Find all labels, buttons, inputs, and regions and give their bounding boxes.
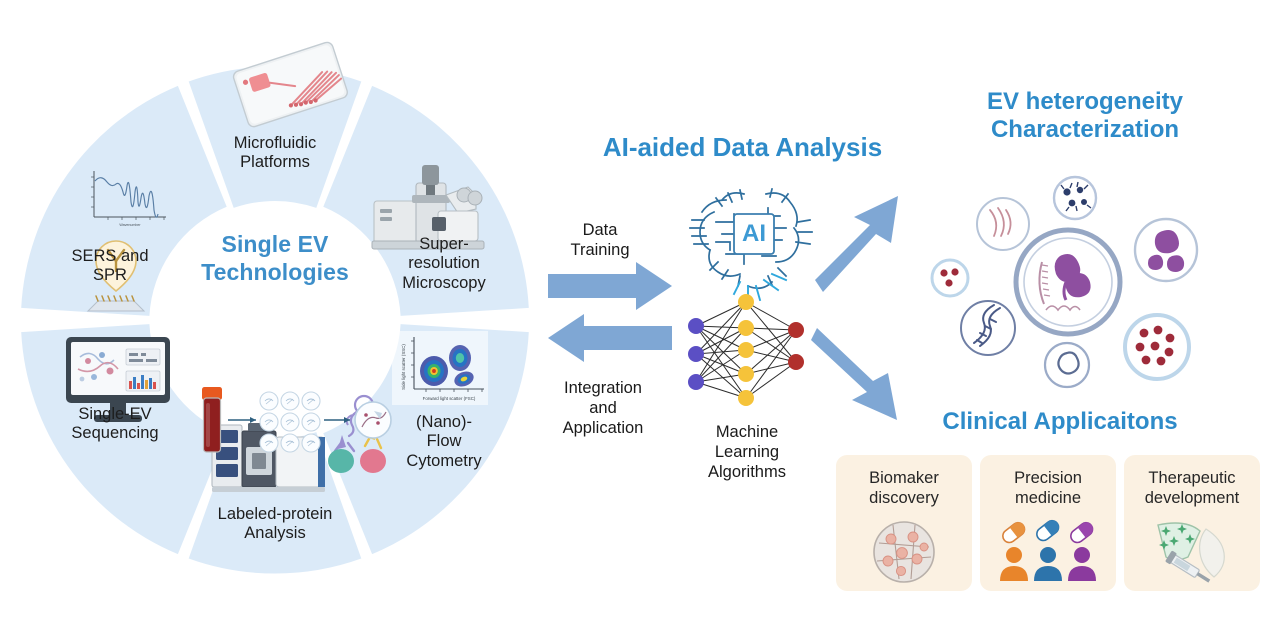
vesicle-protein-cluster — [1054, 177, 1096, 219]
arrow-data-training — [548, 262, 672, 310]
ai-chip-label: AI — [742, 220, 766, 247]
vesicle-dna-helix — [961, 301, 1015, 355]
clinical-card-biomarker[interactable]: Biomaker discovery — [836, 455, 972, 591]
neural-network-icon — [676, 288, 816, 418]
svg-text:Wavenumber: Wavenumber — [119, 223, 141, 227]
flow-cytometry-plot-icon: Side light scatter (SSC) Forward light s… — [392, 331, 488, 405]
single-ev-technologies-wheel: Side light scatter (SSC) Forward light s… — [20, 65, 530, 575]
svg-text:Side light scatter (SSC): Side light scatter (SSC) — [401, 344, 406, 390]
clinical-card-label-therapeutic: Therapeutic development — [1124, 469, 1260, 509]
patients-pills-icon — [980, 519, 1116, 583]
vesicle-many-dots — [1125, 315, 1189, 379]
clinical-card-therapeutic[interactable]: Therapeutic development — [1124, 455, 1260, 591]
vesicle-large-center — [1016, 230, 1120, 334]
ev-array-grid-icon — [260, 392, 320, 452]
clinical-section-title: Clinical Applicaitons — [880, 408, 1240, 436]
hplc-massspec-icon — [212, 423, 325, 492]
infographic-canvas: Side light scatter (SSC) Forward light s… — [0, 0, 1268, 634]
segment-label-sers: SERS and SPR — [42, 247, 178, 286]
svg-text:Forward light scatter (FSC): Forward light scatter (FSC) — [423, 396, 476, 401]
ev-section-title: EV heterogeneity Characterization — [905, 88, 1265, 145]
vesicle-purple-blobs — [1135, 219, 1197, 281]
nn-input-layer — [688, 318, 704, 390]
vesicle-small-dots — [932, 260, 968, 296]
segment-label-superres: Super- resolution Microscopy — [378, 235, 510, 293]
ev-heterogeneity-vesicles — [920, 170, 1250, 400]
clinical-card-label-biomarker: Biomaker discovery — [836, 469, 972, 509]
arrow-integration-application — [548, 314, 672, 362]
flow-arrowhead-1 — [250, 417, 256, 423]
nn-output-layer — [788, 322, 804, 370]
clinical-card-label-precision: Precision medicine — [980, 469, 1116, 509]
blood-collection-tube-icon — [202, 387, 222, 452]
arrow-to-ev-characterization — [815, 196, 898, 292]
clinical-card-precision[interactable]: Precision medicine — [980, 455, 1116, 591]
ai-section-title: AI-aided Data Analysis — [560, 132, 925, 163]
vesicle-ring — [1045, 343, 1089, 387]
ai-circuit-brain-icon: AI — [686, 182, 826, 302]
syringe-nanoparticle-icon — [1124, 521, 1260, 583]
segment-label-microfluidic: Microfluidic Platforms — [198, 134, 352, 173]
arrow-to-clinical-applications — [811, 328, 897, 420]
segment-label-sequencing: Single-EV Sequencing — [40, 405, 190, 444]
wheel-hub-title: Single EV Technologies — [145, 231, 405, 286]
segment-label-labeledprotein: Labeled-protein Analysis — [190, 505, 360, 544]
tissue-culture-dish-icon — [836, 517, 972, 583]
vesicle-fiber — [977, 198, 1029, 250]
segment-label-nanoflow: (Nano)- Flow Cytometry — [378, 413, 510, 471]
